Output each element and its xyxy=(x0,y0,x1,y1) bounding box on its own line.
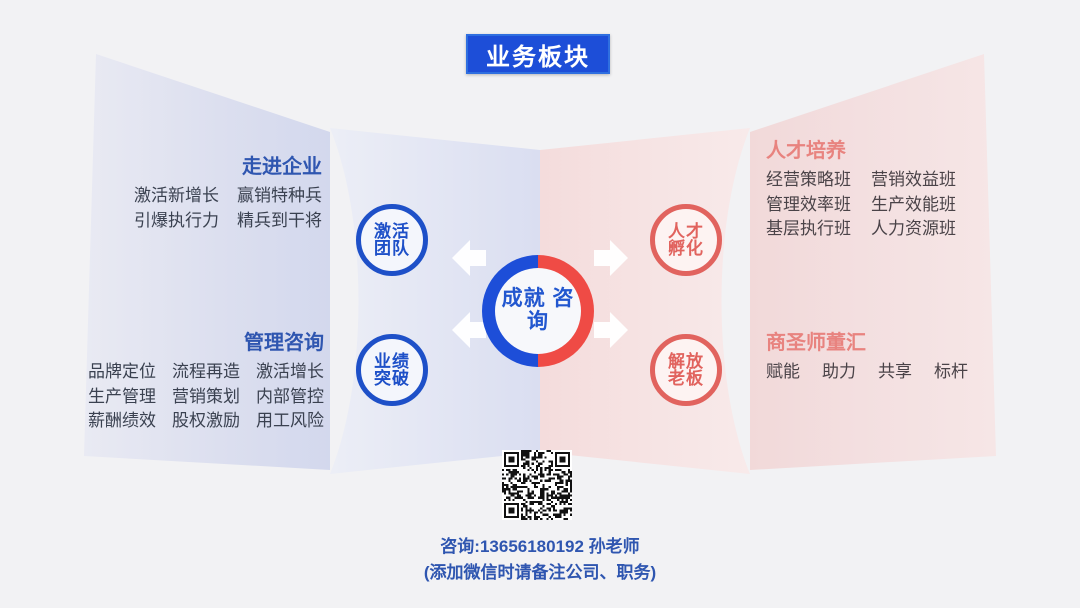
list-item: 生产效能班 xyxy=(871,193,956,218)
section-club-items: 赋能 助力 共享 标杆 xyxy=(766,360,1016,385)
section-talent-heading: 人才培养 xyxy=(766,140,1016,162)
node-label-line2: 突破 xyxy=(374,370,410,387)
list-item: 营销效益班 xyxy=(871,168,956,193)
list-item: 精兵到干将 xyxy=(237,209,322,234)
list-item: 品牌定位 xyxy=(88,360,156,385)
contact-phone: 咨询:13656180192 孙老师 xyxy=(0,534,1080,560)
list-item: 人力资源班 xyxy=(871,217,956,242)
section-enterprise-heading: 走进企业 xyxy=(62,156,322,178)
list-item: 生产管理 xyxy=(88,385,156,410)
list-item: 引爆执行力 xyxy=(134,209,219,234)
list-item: 管理效率班 xyxy=(766,193,851,218)
node-label-line1: 业绩 xyxy=(374,353,410,370)
section-management: 管理咨询 品牌定位 流程再造 激活增长 生产管理 营销策划 内部管控 薪酬绩效 … xyxy=(42,332,324,434)
node-activate-team: 激活 团队 xyxy=(356,204,428,276)
section-club: 商圣师董汇 赋能 助力 共享 标杆 xyxy=(766,332,1016,385)
qr-code xyxy=(502,450,572,520)
list-item: 股权激励 xyxy=(172,409,240,434)
page-title: 业务板块 xyxy=(466,34,610,74)
section-talent-items: 经营策略班 营销效益班 管理效率班 生产效能班 基层执行班 人力资源班 xyxy=(766,168,1016,242)
list-item: 流程再造 xyxy=(172,360,240,385)
list-item: 助力 xyxy=(822,360,856,385)
section-enterprise: 走进企业 激活新增长 赢销特种兵 引爆执行力 精兵到干将 xyxy=(62,156,322,233)
section-talent: 人才培养 经营策略班 营销效益班 管理效率班 生产效能班 基层执行班 人力资源班 xyxy=(766,140,1016,242)
contact-note: (添加微信时请备注公司、职务) xyxy=(0,560,1080,586)
infographic-canvas: 业务板块 走进企业 激活新增长 赢销特种兵 引爆执行力 精兵到干将 管理咨询 品… xyxy=(0,0,1080,608)
list-item: 经营策略班 xyxy=(766,168,851,193)
list-item: 激活增长 xyxy=(256,360,324,385)
list-item: 营销策划 xyxy=(172,385,240,410)
contact-info: 咨询:13656180192 孙老师 (添加微信时请备注公司、职务) xyxy=(0,534,1080,585)
section-management-heading: 管理咨询 xyxy=(42,332,324,354)
list-item: 赢销特种兵 xyxy=(237,184,322,209)
node-label-line1: 解放 xyxy=(668,353,704,370)
list-item: 标杆 xyxy=(934,360,968,385)
center-hub: 成就 咨询 xyxy=(482,255,594,367)
node-liberate-boss: 解放 老板 xyxy=(650,334,722,406)
hub-label: 成就 咨询 xyxy=(495,288,581,333)
list-item: 共享 xyxy=(878,360,912,385)
section-management-items: 品牌定位 流程再造 激活增长 生产管理 营销策划 内部管控 薪酬绩效 股权激励 … xyxy=(42,360,324,434)
node-label-line1: 人才 xyxy=(668,223,704,240)
list-item: 用工风险 xyxy=(256,409,324,434)
node-label-line2: 老板 xyxy=(668,370,704,387)
node-talent-incubation: 人才 孵化 xyxy=(650,204,722,276)
hub-inner: 成就 咨询 xyxy=(495,268,581,354)
section-enterprise-items: 激活新增长 赢销特种兵 引爆执行力 精兵到干将 xyxy=(62,184,322,233)
node-performance-breakthrough: 业绩 突破 xyxy=(356,334,428,406)
list-item: 激活新增长 xyxy=(134,184,219,209)
list-item: 薪酬绩效 xyxy=(88,409,156,434)
node-label-line1: 激活 xyxy=(374,223,410,240)
section-club-heading: 商圣师董汇 xyxy=(766,332,1016,354)
hub-label-line1: 成就 xyxy=(502,287,546,310)
list-item: 赋能 xyxy=(766,360,800,385)
list-item: 内部管控 xyxy=(256,385,324,410)
node-label-line2: 孵化 xyxy=(668,240,704,257)
list-item: 基层执行班 xyxy=(766,217,851,242)
right-outer-panel xyxy=(750,54,996,470)
node-label-line2: 团队 xyxy=(374,240,410,257)
